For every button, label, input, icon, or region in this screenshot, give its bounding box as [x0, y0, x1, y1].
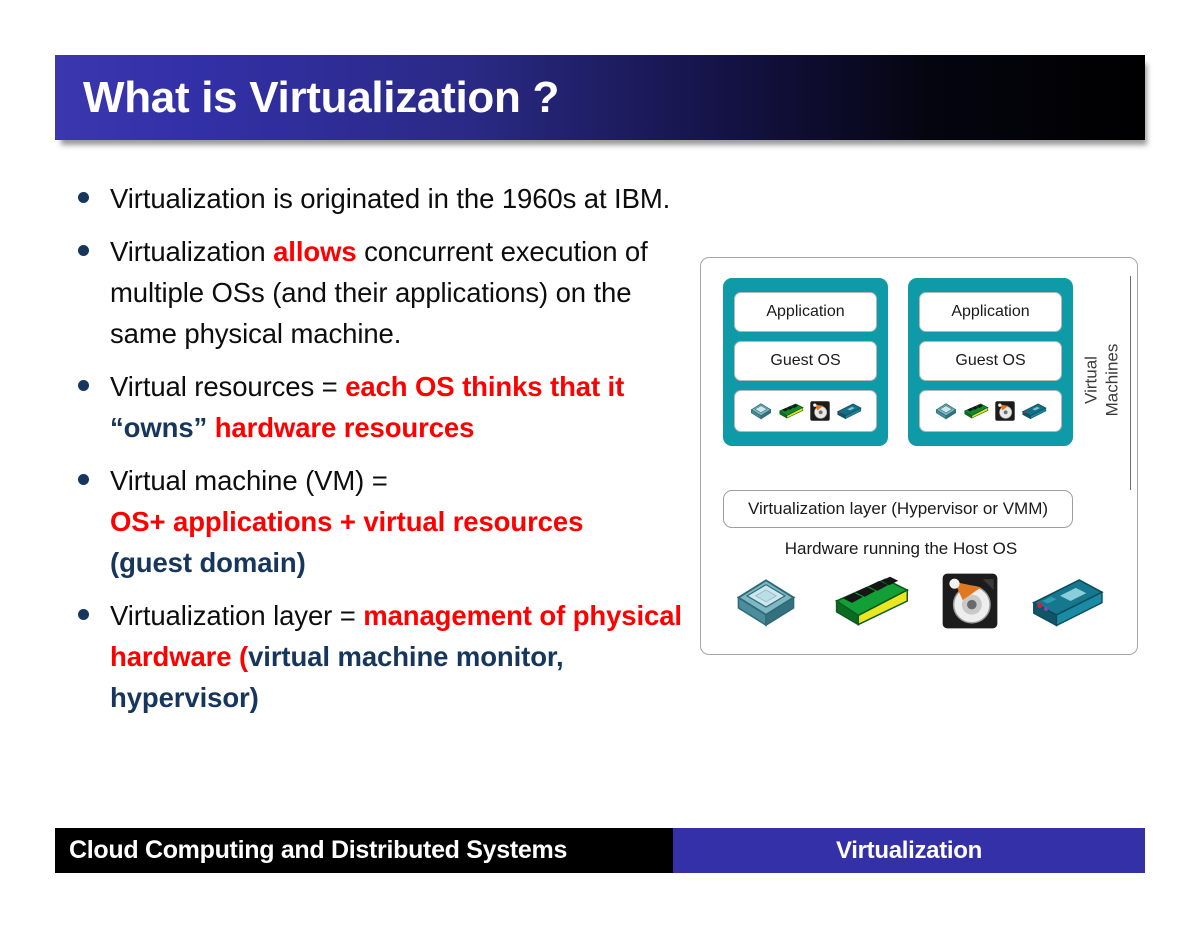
- bullet-virtual-machine-text: Virtual machine (VM) = OS+ applications …: [110, 460, 583, 583]
- application-box: Application: [919, 292, 1062, 332]
- virtual-machines-label: Virtual Machines: [1073, 282, 1129, 478]
- virtual-machine-box-1: Application Guest OS: [723, 278, 888, 446]
- virtual-machines-bracket-line: [1130, 276, 1131, 490]
- virtual-hardware-box: [734, 390, 877, 432]
- bullet-dot-icon: [78, 609, 89, 620]
- bullet-seg-emphasis: (: [231, 641, 248, 672]
- bullet-virtual-resources: Virtual resources = each OS thinks that …: [78, 366, 688, 448]
- host-hardware-caption: Hardware running the Host OS: [701, 539, 1101, 559]
- network-card-icon: [1027, 573, 1107, 629]
- ram-icon: [778, 401, 804, 421]
- footer-topic-label: Virtualization: [836, 837, 982, 865]
- bullet-dot-icon: [78, 380, 89, 391]
- bullet-seg-navy: ): [297, 547, 306, 578]
- footer-topic-section: Virtualization: [673, 828, 1145, 873]
- harddisk-icon: [809, 400, 831, 422]
- bullet-seg: Virtualization is originated in the 1960…: [110, 183, 670, 214]
- virtual-machine-box-2: Application Guest OS: [908, 278, 1073, 446]
- slide-title-bar: What is Virtualization ?: [55, 55, 1145, 140]
- bullet-virtualization-layer: Virtualization layer = management of phy…: [78, 595, 688, 718]
- guest-os-box: Guest OS: [734, 341, 877, 381]
- virtual-machines-label-line2: Machines: [1102, 344, 1121, 417]
- bullet-seg-navy: guest domain: [119, 547, 297, 578]
- bullet-concurrent-execution: Virtualization allows concurrent executi…: [78, 231, 688, 354]
- bullet-seg-emphasis: allows: [273, 236, 356, 267]
- network-card-icon: [1021, 401, 1047, 421]
- slide-body: Virtualization is originated in the 1960…: [78, 178, 688, 730]
- bullet-dot-icon: [78, 245, 89, 256]
- slide-footer: Cloud Computing and Distributed Systems …: [55, 828, 1145, 873]
- bullet-seg: Virtual resources =: [110, 371, 345, 402]
- guest-os-box: Guest OS: [919, 341, 1062, 381]
- footer-course-label: Cloud Computing and Distributed Systems: [69, 836, 567, 865]
- bullet-origin: Virtualization is originated in the 1960…: [78, 178, 688, 219]
- application-box: Application: [734, 292, 877, 332]
- bullet-virtual-machine: Virtual machine (VM) = OS+ applications …: [78, 460, 688, 583]
- virtual-hardware-icons: [749, 400, 862, 422]
- bullet-seg-navy: ): [250, 682, 259, 713]
- bullet-seg-navy: (: [110, 547, 119, 578]
- page-title: What is Virtualization ?: [55, 73, 559, 123]
- bullet-dot-icon: [78, 474, 89, 485]
- footer-course-section: Cloud Computing and Distributed Systems: [55, 828, 673, 873]
- ram-icon: [830, 572, 912, 630]
- physical-hardware-icons: [715, 570, 1120, 632]
- bullet-seg: Virtualization: [110, 236, 273, 267]
- bullet-concurrent-execution-text: Virtualization allows concurrent executi…: [110, 231, 688, 354]
- virtualization-architecture-diagram: Application Guest OS: [700, 257, 1138, 655]
- network-card-icon: [836, 401, 862, 421]
- cpu-icon: [934, 400, 958, 422]
- bullet-origin-text: Virtualization is originated in the 1960…: [110, 178, 670, 219]
- bullet-virtual-resources-text: Virtual resources = each OS thinks that …: [110, 366, 688, 448]
- bullet-seg-emphasis: each OS thinks that it: [345, 371, 624, 402]
- ram-icon: [963, 401, 989, 421]
- harddisk-icon: [939, 570, 1001, 632]
- bullet-seg-navy: “owns”: [110, 412, 207, 443]
- virtualization-layer-box: Virtualization layer (Hypervisor or VMM): [723, 490, 1073, 528]
- cpu-icon: [728, 570, 804, 632]
- bullet-seg-emphasis: hardware resources: [207, 412, 474, 443]
- virtual-hardware-icons: [934, 400, 1047, 422]
- bullet-dot-icon: [78, 192, 89, 203]
- bullet-seg: Virtual machine (VM) =: [110, 465, 388, 496]
- virtual-machines-group: Application Guest OS: [723, 278, 1073, 446]
- cpu-icon: [749, 400, 773, 422]
- bullet-seg: Virtualization layer =: [110, 600, 363, 631]
- virtual-machines-label-line1: Virtual: [1081, 356, 1100, 404]
- harddisk-icon: [994, 400, 1016, 422]
- virtual-hardware-box: [919, 390, 1062, 432]
- bullet-seg-emphasis: OS+ applications + virtual resources: [110, 506, 583, 537]
- bullet-virtualization-layer-text: Virtualization layer = management of phy…: [110, 595, 688, 718]
